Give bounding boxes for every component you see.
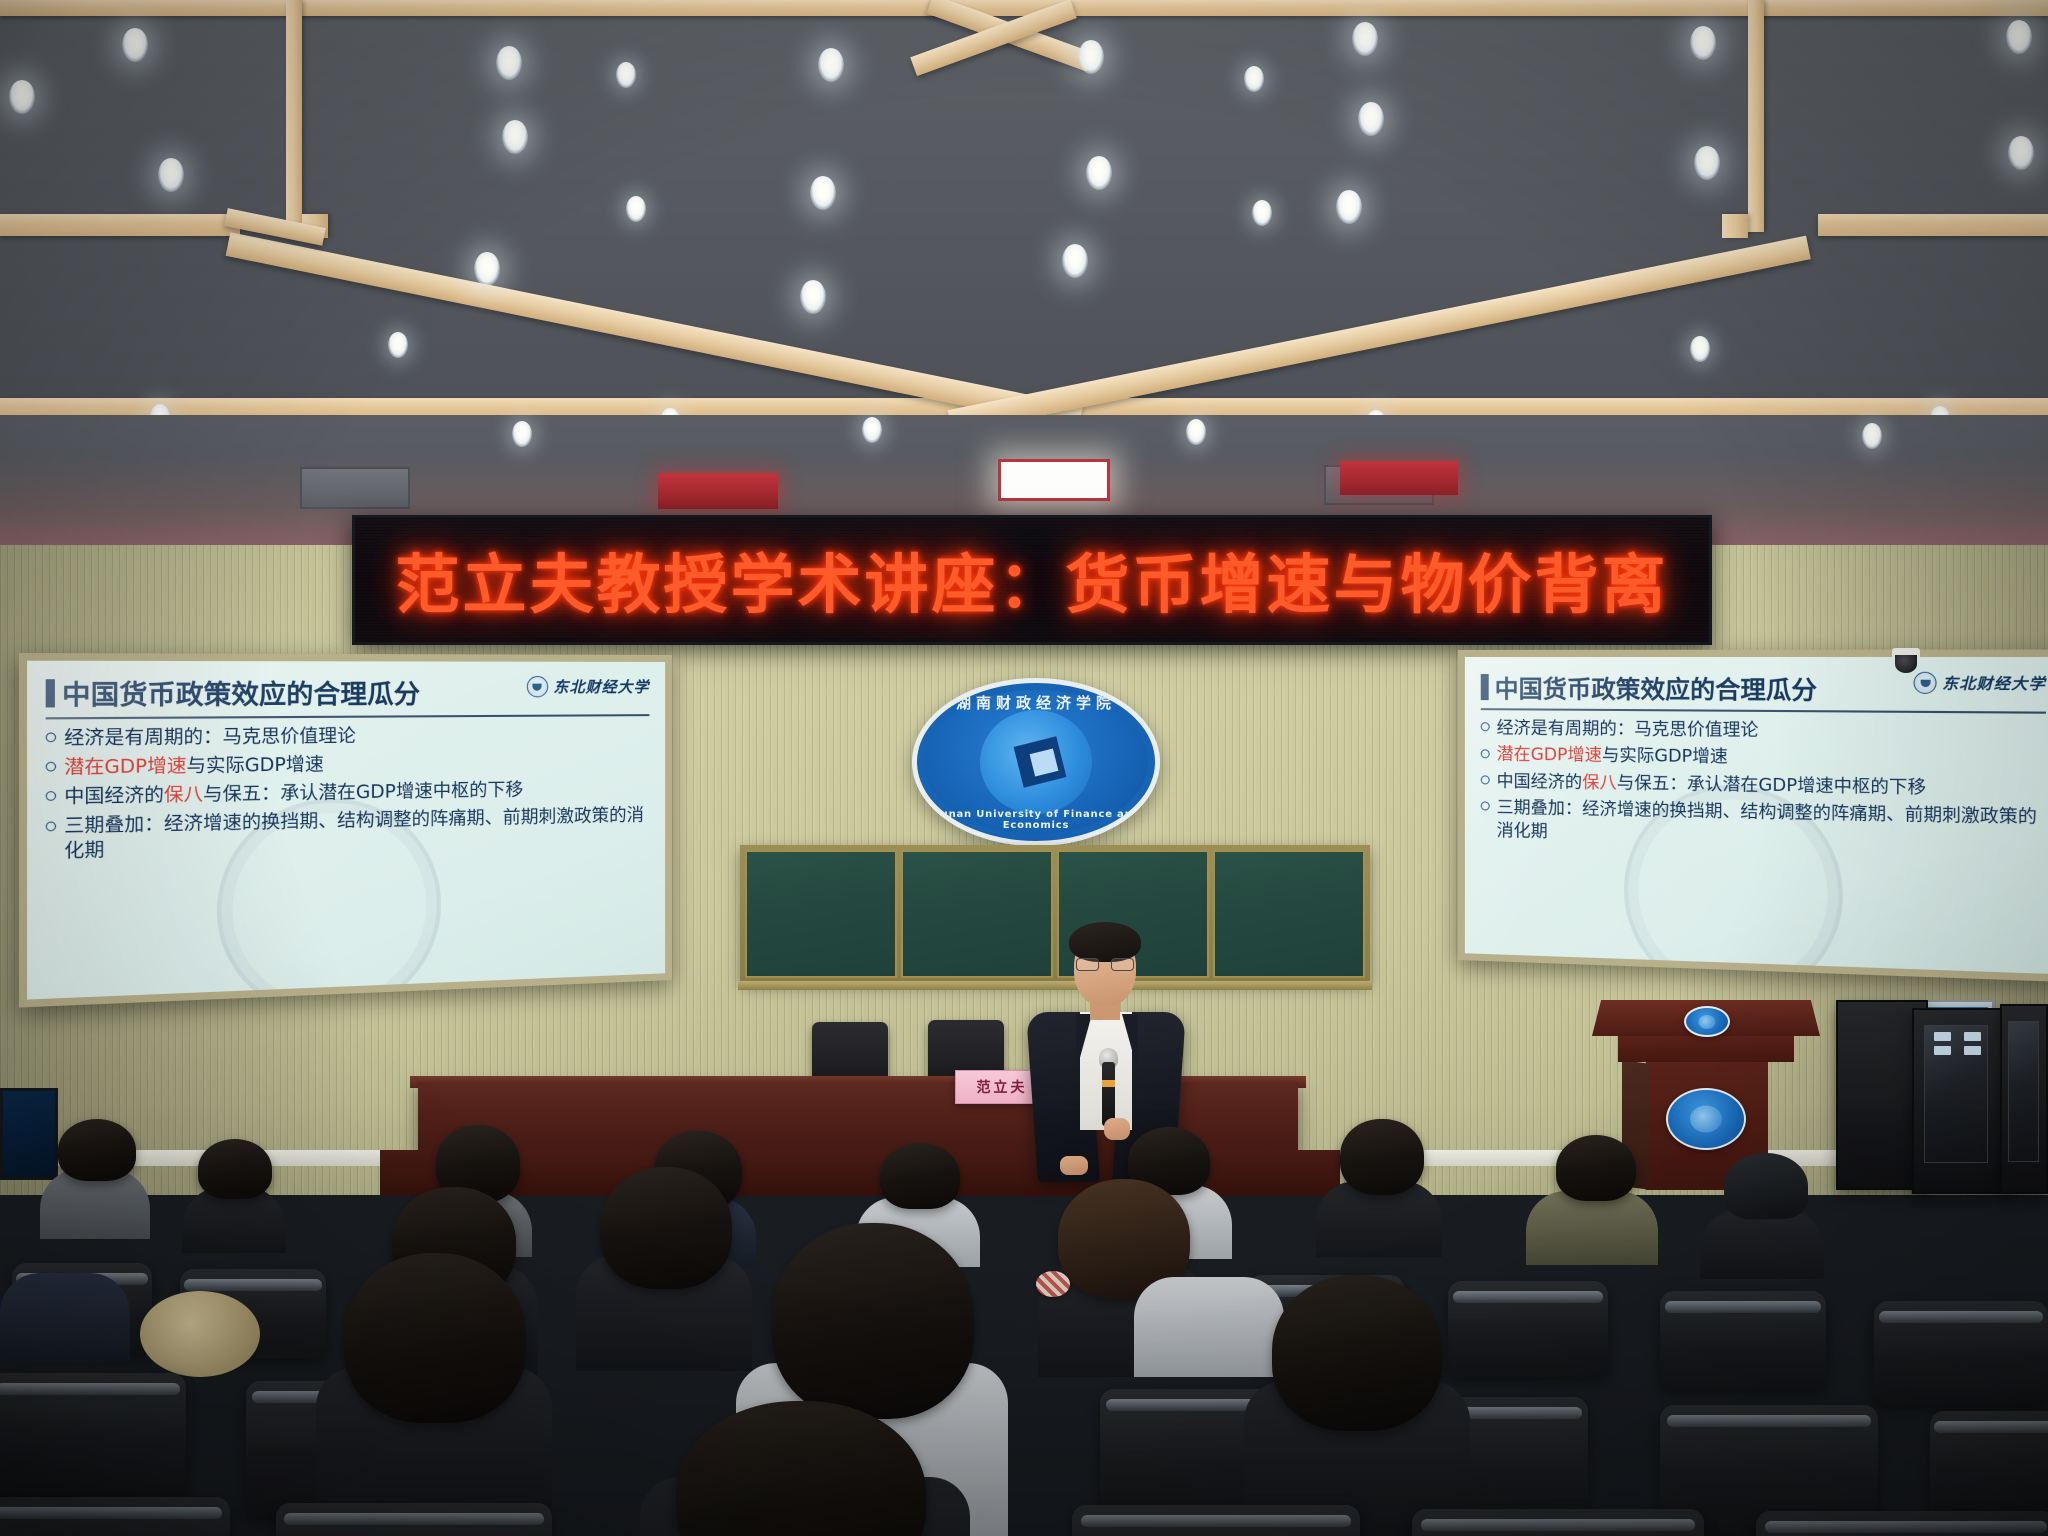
bullet-marker-icon [1481,775,1490,784]
auditorium-seat-front [276,1503,552,1536]
lapel-right [1122,1014,1138,1072]
led-scrolling-banner: 范立夫教授学术讲座：货币增速与物价背离 [352,515,1712,645]
projection-screen-right: 中国货币政策效应的合理瓜分 东北财经大学 经济是有周期的：马克思价值理论潜在GD… [1458,649,2048,982]
ceiling [0,0,2048,420]
dufe-logo-right: 东北财经大学 [1914,670,2046,695]
bullet-marker-icon [46,821,56,831]
audience-head [1272,1275,1442,1431]
chalkboard-panel [1213,850,1365,978]
audience-head [58,1119,136,1181]
slide-bullet-text: 中国经济的保八与保五：承认潜在GDP增速中枢的下移 [1497,770,1927,799]
bullet-marker-icon [46,762,56,772]
security-camera-icon [1892,648,1920,678]
university-logo-text: 东北财经大学 [553,676,649,697]
hair-scrunchie [1036,1271,1070,1297]
slide-bullet-text: 三期叠加：经济增速的换挡期、结构调整的阵痛期、前期刺激政策的消化期 [64,805,649,865]
auditorium-seat-front [1756,1511,2048,1536]
title-accent-bar [1481,674,1489,700]
auditorium-seat-front [1412,1509,1704,1536]
bullet-marker-icon [1481,749,1490,758]
bullet-marker-icon [46,733,56,743]
auditorium-seat [1660,1291,1826,1389]
slide-bullet: 经济是有周期的：马克思价值理论 [46,723,650,752]
audience-head [1340,1119,1424,1195]
audience-seating [0,1105,2048,1536]
title-accent-bar [46,679,55,707]
university-seal-icon [527,676,548,697]
audience-head-with-cap [1724,1153,1808,1219]
slide-bullet: 中国经济的保八与保五：承认潜在GDP增速中枢的下移 [1481,770,2046,802]
slide-bullet-text: 经济是有周期的：马克思价值理论 [1497,717,1759,742]
slide-bullet: 三期叠加：经济增速的换挡期、结构调整的阵痛期、前期刺激政策的消化期 [46,805,650,866]
slide-bullet-text: 中国经济的保八与保五：承认潜在GDP增速中枢的下移 [64,779,523,810]
audience-head [344,1253,526,1423]
university-logo-text: 东北财经大学 [1942,672,2046,695]
slide-bullet-text: 三期叠加：经济增速的换挡期、结构调整的阵痛期、前期刺激政策的消化期 [1497,797,2046,854]
slide-header-right: 中国货币政策效应的合理瓜分 东北财经大学 [1481,669,2046,714]
glasses-icon [1076,958,1134,971]
dufe-logo-left: 东北财经大学 [527,674,650,697]
audience-head [600,1167,732,1289]
slide-title: 中国货币政策效应的合理瓜分 [1495,669,1817,706]
audience-member [1134,1277,1284,1377]
university-emblem: 湖南财政经济学院 Hunan University of Finance and… [912,678,1160,846]
emblem-glyph-icon [980,710,1092,814]
slide-bullet: 三期叠加：经济增速的换挡期、结构调整的阵痛期、前期刺激政策的消化期 [1481,797,2046,854]
slide-title: 中国货币政策效应的合理瓜分 [62,674,420,713]
slide-bullet-list-right: 经济是有周期的：马克思价值理论潜在GDP增速与实际GDP增速中国经济的保八与保五… [1481,717,2046,854]
audience-head [198,1139,272,1199]
bullet-marker-icon [1481,722,1490,731]
auditorium-seat [1448,1281,1608,1377]
slide-header-left: 中国货币政策效应的合理瓜分 东北财经大学 [46,674,650,720]
lectern-neck [1618,1036,1794,1062]
slide-bullet: 经济是有周期的：马克思价值理论 [1481,717,2046,745]
auditorium-seat-front [1072,1505,1360,1536]
bullet-marker-icon [1481,802,1490,811]
audience-member [1526,1191,1658,1265]
microphone-band [1102,1080,1115,1087]
slide-content-right: 中国货币政策效应的合理瓜分 东北财经大学 经济是有周期的：马克思价值理论潜在GD… [1465,657,2048,974]
auditorium-seat-front [0,1497,230,1536]
audience-head [1556,1135,1636,1201]
audience-member [1700,1209,1824,1279]
auditorium-seat [0,1373,186,1505]
lecturer-hair [1069,922,1141,962]
lapel-left [1076,1014,1092,1072]
audience-member [0,1273,130,1363]
slide-content-left: 中国货币政策效应的合理瓜分 东北财经大学 经济是有周期的：马克思价值理论潜在GD… [27,661,665,1000]
led-banner-text: 范立夫教授学术讲座：货币增速与物价背离 [396,534,1669,626]
slide-bullet-text: 潜在GDP增速与实际GDP增速 [64,754,324,782]
slide-bullet: 潜在GDP增速与实际GDP增速 [1481,744,2046,774]
slide-bullet: 潜在GDP增速与实际GDP增速 [46,750,650,781]
lecture-hall-photo: 范立夫教授学术讲座：货币增速与物价背离 中国货币政策效应的合理瓜分 东北财经大学… [0,0,2048,1536]
auditorium-seat [1874,1301,2048,1405]
chalkboard-panel [745,850,897,978]
audience-head [772,1223,974,1419]
slide-bullet-list-left: 经济是有周期的：马克思价值理论潜在GDP增速与实际GDP增速中国经济的保八与保五… [46,723,650,865]
bullet-marker-icon [46,791,56,801]
lectern-logo-small-icon [1684,1006,1730,1037]
projection-screen-left: 中国货币政策效应的合理瓜分 东北财经大学 经济是有周期的：马克思价值理论潜在GD… [19,653,672,1007]
audience-head [880,1143,960,1209]
slide-bullet-text: 潜在GDP增速与实际GDP增速 [1497,744,1728,770]
slide-bullet-text: 经济是有周期的：马克思价值理论 [64,725,356,752]
fur-hood [140,1291,260,1377]
